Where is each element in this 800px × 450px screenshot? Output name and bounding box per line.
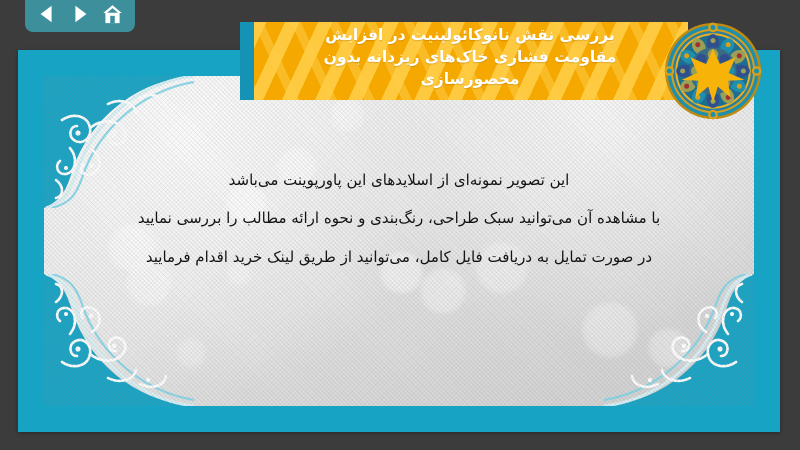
body-line-2: با مشاهده آن می‌توانید سبک طراحی، رنگ‌بن… [84,199,714,237]
bokeh-circle [648,328,688,368]
slide-navigation-toolbar [25,0,135,32]
title-banner: بررسی نقش نانوکائولینیت در افزایش مقاومت… [252,22,688,100]
slide-body-text: این تصویر نمونه‌ای از اسلایدهای این پاور… [84,161,714,276]
bokeh-circle [330,98,364,132]
bokeh-circle [582,302,638,358]
arabesque-corner-bottom-right [604,274,754,406]
triangle-left-icon [36,3,58,25]
bokeh-circle [176,338,206,368]
home-icon [101,3,124,26]
triangle-right-icon [69,3,91,25]
body-line-3: در صورت تمایل به دریافت فایل کامل، می‌تو… [84,238,714,276]
home-button[interactable] [100,1,126,27]
arabesque-ornament-icon [604,274,754,406]
slide-content-area: این تصویر نمونه‌ای از اسلایدهای این پاور… [44,76,754,406]
title-banner-tab [240,22,254,100]
body-line-1: این تصویر نمونه‌ای از اسلایدهای این پاور… [84,161,714,199]
slide-title: بررسی نقش نانوکائولینیت در افزایش مقاومت… [252,22,688,90]
islamic-star-medallion [664,22,762,120]
previous-slide-button[interactable] [34,1,60,27]
arabesque-ornament-icon [44,274,194,406]
arabesque-corner-bottom-left [44,274,194,406]
presentation-viewer: این تصویر نمونه‌ای از اسلایدهای این پاور… [0,0,800,450]
medallion-icon [664,22,762,120]
next-slide-button[interactable] [67,1,93,27]
